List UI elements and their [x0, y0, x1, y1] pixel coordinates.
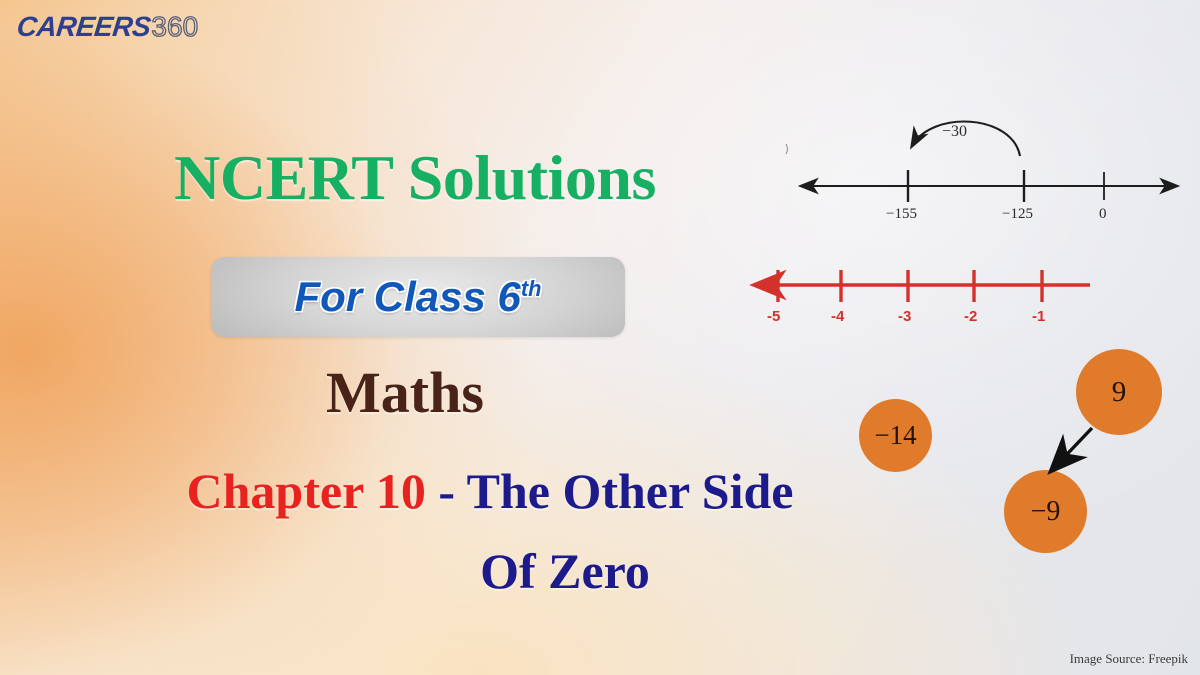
page-title: NCERT Solutions [0, 146, 830, 210]
poster-canvas: CAREERS 360 NCERT Solutions For Class 6t… [0, 0, 1200, 675]
chapter-heading-line1: Chapter 10 - The Other Side [0, 466, 980, 516]
number-line-svg [780, 108, 1195, 233]
class-badge-prefix: For Class 6 [294, 273, 520, 320]
careers360-logo[interactable]: CAREERS 360 [17, 11, 198, 43]
red-tick-label-minus5: -5 [767, 308, 780, 325]
red-tick-label-minus4: -4 [831, 308, 844, 325]
logo-360-text: 360 [151, 11, 198, 43]
tick-label-minus155: −155 [886, 206, 917, 223]
bubble-minus-fourteen: −14 [859, 399, 932, 472]
arrow-nine-to-minus-nine-icon [1030, 420, 1110, 500]
image-source-credit: Image Source: Freepik [1070, 651, 1188, 667]
negative-number-line-diagram: -5 -4 -3 -2 -1 [738, 258, 1128, 344]
logo-careers-text: CAREERS [15, 11, 152, 43]
chapter-heading-line2: Of Zero [0, 546, 1130, 596]
chapter-title-part2: Of Zero [480, 543, 650, 599]
chapter-title-part1: - The Other Side [426, 463, 794, 519]
red-tick-label-minus1: -1 [1032, 308, 1045, 325]
chapter-number: Chapter 10 [187, 463, 426, 519]
jump-arc-label: −30 [942, 123, 967, 141]
class-badge-ordinal: th [521, 276, 542, 301]
red-number-line-svg [738, 258, 1128, 344]
integer-number-line-diagram: −155 −125 0 −30 [780, 108, 1195, 233]
class-badge-label: For Class 6th [294, 273, 541, 321]
red-tick-label-minus2: -2 [964, 308, 977, 325]
class-badge: For Class 6th [211, 257, 625, 337]
subject-heading: Maths [0, 364, 810, 422]
tick-label-zero: 0 [1099, 206, 1107, 223]
tick-label-minus125: −125 [1002, 206, 1033, 223]
red-tick-label-minus3: -3 [898, 308, 911, 325]
